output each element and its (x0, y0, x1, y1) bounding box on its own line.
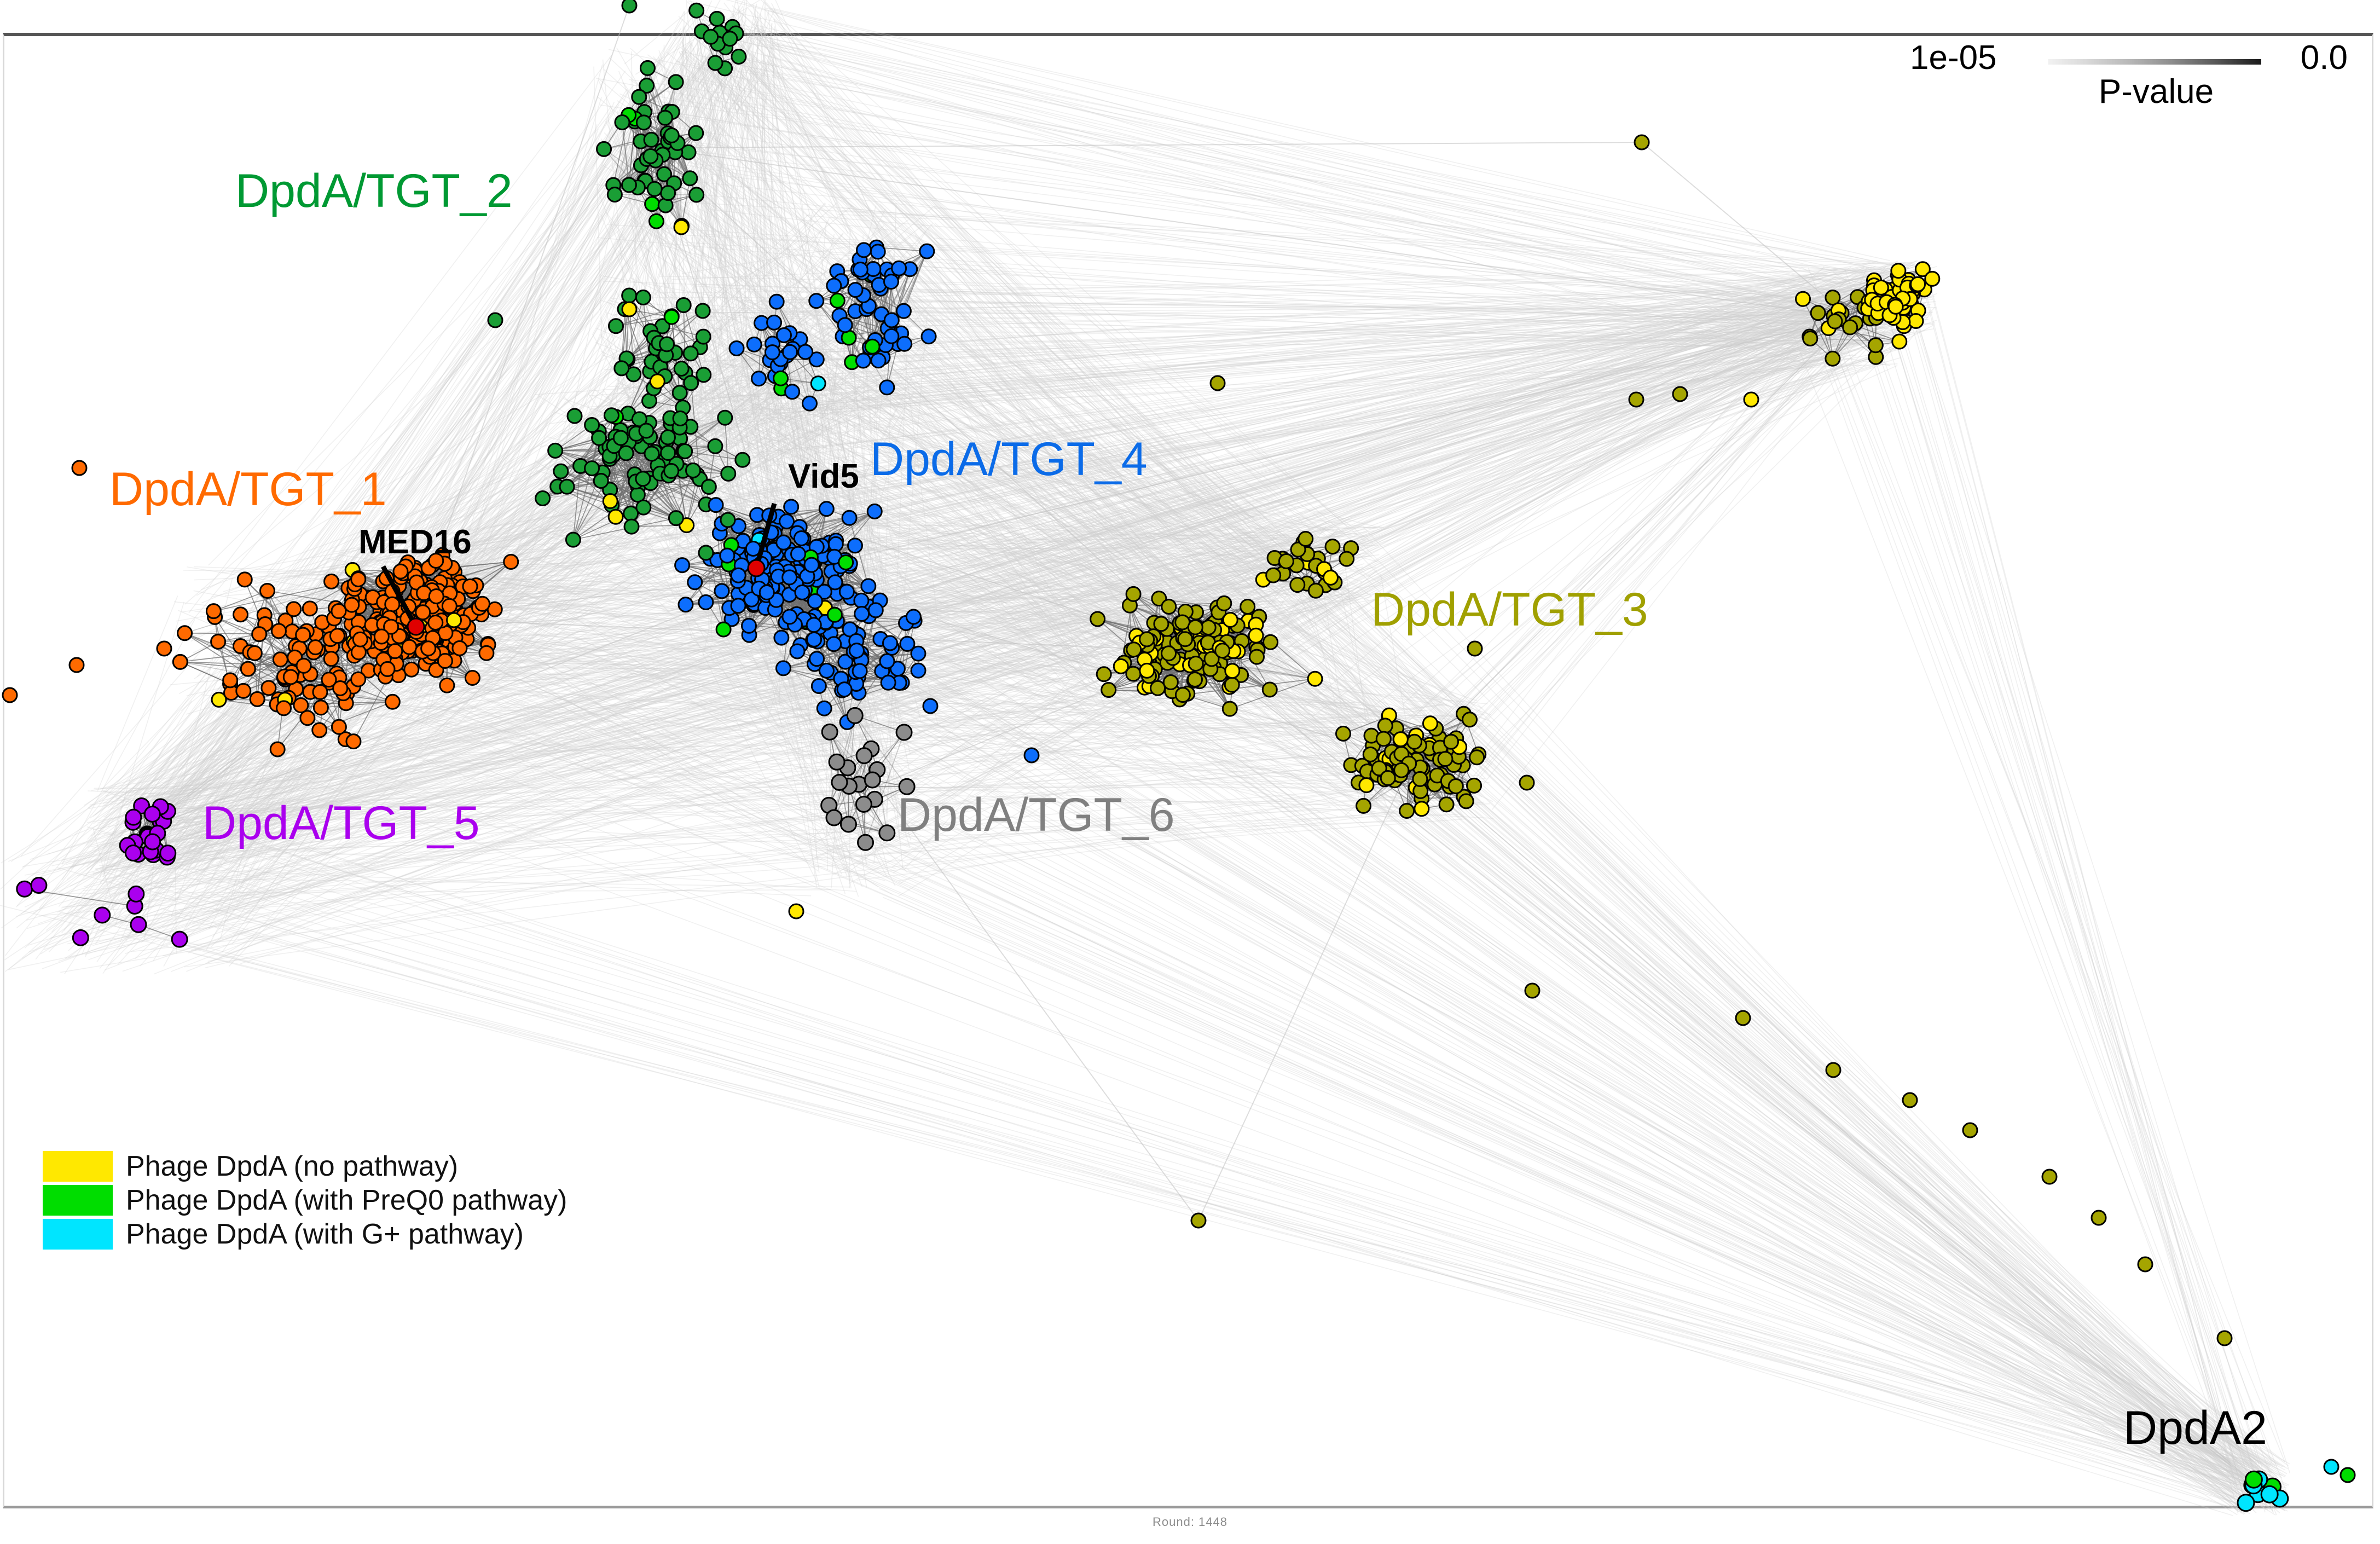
cluster-label-tgt2: DpdA/TGT_2 (235, 164, 513, 218)
graph-node (622, 0, 636, 13)
pvalue-min-label: 1e-05 (1910, 38, 1997, 77)
node-color-legend: Phage DpdA (no pathway) Phage DpdA (with… (43, 1149, 567, 1251)
legend-swatch-no-pathway (43, 1151, 113, 1182)
figure-canvas: 1e-05 0.0 P-value Phage DpdA (no pathway… (0, 0, 2380, 1544)
legend-label-preq0: Phage DpdA (with PreQ0 pathway) (126, 1186, 567, 1215)
pvalue-gradient-bar (2048, 59, 2261, 65)
annotation-med16: MED16 (358, 523, 472, 562)
legend-item: Phage DpdA (no pathway) (43, 1149, 567, 1183)
cluster-label-tgt5: DpdA/TGT_5 (202, 796, 480, 851)
plot-frame (3, 33, 2373, 1508)
graph-node (690, 3, 704, 18)
legend-swatch-gplus (43, 1219, 113, 1250)
legend-item: Phage DpdA (with G+ pathway) (43, 1217, 567, 1251)
cluster-label-tgt6: DpdA/TGT_6 (897, 788, 1175, 842)
annotation-vid5: Vid5 (788, 457, 859, 496)
pvalue-caption: P-value (2058, 72, 2255, 111)
cluster-label-tgt3: DpdA/TGT_3 (1371, 583, 1648, 637)
legend-item: Phage DpdA (with PreQ0 pathway) (43, 1183, 567, 1217)
legend-swatch-preq0 (43, 1185, 113, 1216)
graph-node (710, 11, 724, 26)
round-counter: Round: 1448 (0, 1515, 2380, 1529)
cluster-label-tgt1: DpdA/TGT_1 (109, 462, 387, 517)
graph-node (725, 20, 739, 34)
legend-label-gplus: Phage DpdA (with G+ pathway) (126, 1220, 524, 1248)
pvalue-max-label: 0.0 (2301, 38, 2348, 77)
pvalue-legend: 1e-05 0.0 P-value (1910, 33, 2348, 131)
cluster-label-tgt4: DpdA/TGT_4 (870, 432, 1148, 487)
cluster-label-dpda2: DpdA2 (2123, 1401, 2267, 1455)
legend-label-no-pathway: Phage DpdA (no pathway) (126, 1152, 458, 1181)
